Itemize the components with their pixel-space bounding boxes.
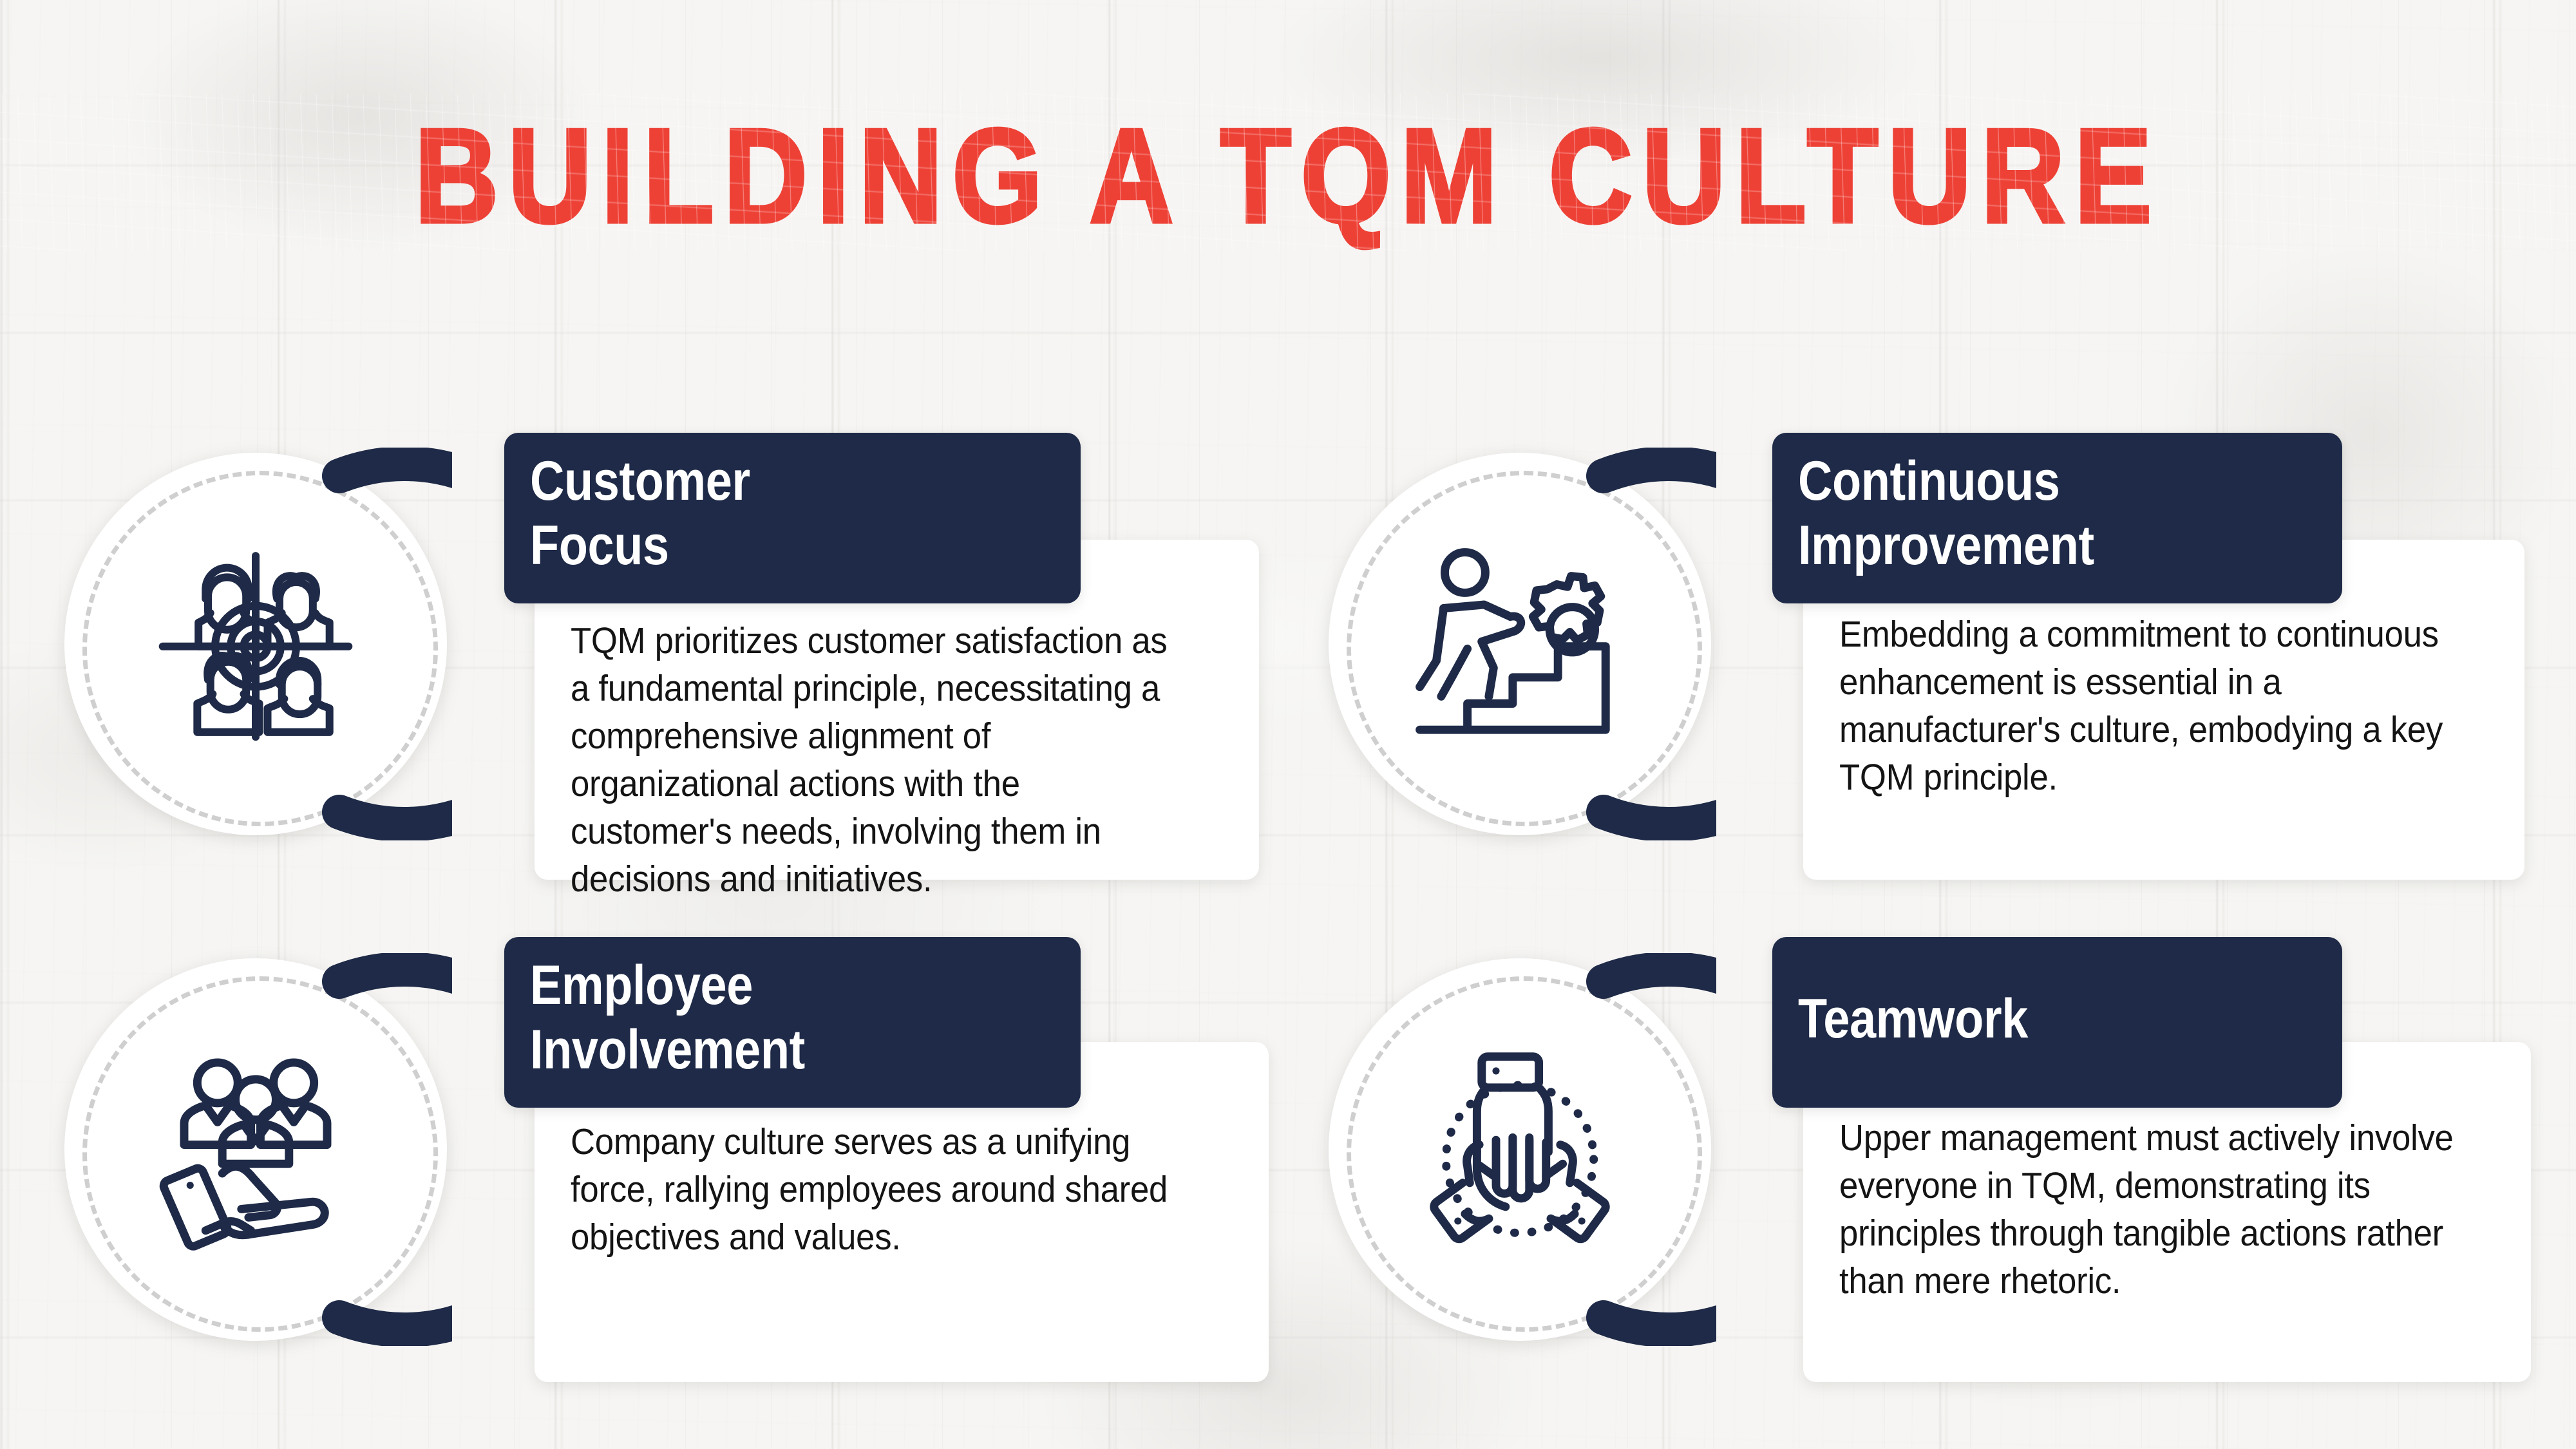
card-header-continuous-improvement: Continuous Improvement xyxy=(1772,433,2342,603)
card-description: Embedding a commitment to continuous enh… xyxy=(1839,611,2453,801)
card-heading: Employee Involvement xyxy=(530,954,981,1083)
card-description: Upper management must actively involve e… xyxy=(1839,1114,2459,1305)
card-description: Company culture serves as a unifying for… xyxy=(571,1118,1196,1261)
medallion-customer-focus xyxy=(59,448,452,840)
medallion-continuous-improvement xyxy=(1323,448,1716,840)
card-header-customer-focus: Customer Focus xyxy=(504,433,1081,603)
infographic-canvas: BUILDING A TQM CULTURE xyxy=(0,0,2576,1449)
medallion-employee-involvement xyxy=(59,953,452,1346)
medallion-teamwork xyxy=(1323,953,1716,1346)
card-heading: Customer Focus xyxy=(530,450,981,578)
people-target-icon xyxy=(137,525,375,763)
page-title-text: BUILDING A TQM CULTURE xyxy=(415,102,2161,251)
hand-holding-people-icon xyxy=(137,1030,375,1269)
person-pushing-gear-up-stairs-icon xyxy=(1401,525,1639,763)
card-header-employee-involvement: Employee Involvement xyxy=(504,937,1081,1108)
card-heading: Continuous Improvement xyxy=(1798,450,2244,578)
stacked-hands-icon xyxy=(1401,1030,1639,1269)
card-heading: Teamwork xyxy=(1798,954,2244,1052)
page-title: BUILDING A TQM CULTURE xyxy=(0,109,2576,243)
card-header-teamwork: Teamwork xyxy=(1772,937,2342,1108)
card-description: TQM prioritizes customer satisfaction as… xyxy=(571,617,1187,904)
